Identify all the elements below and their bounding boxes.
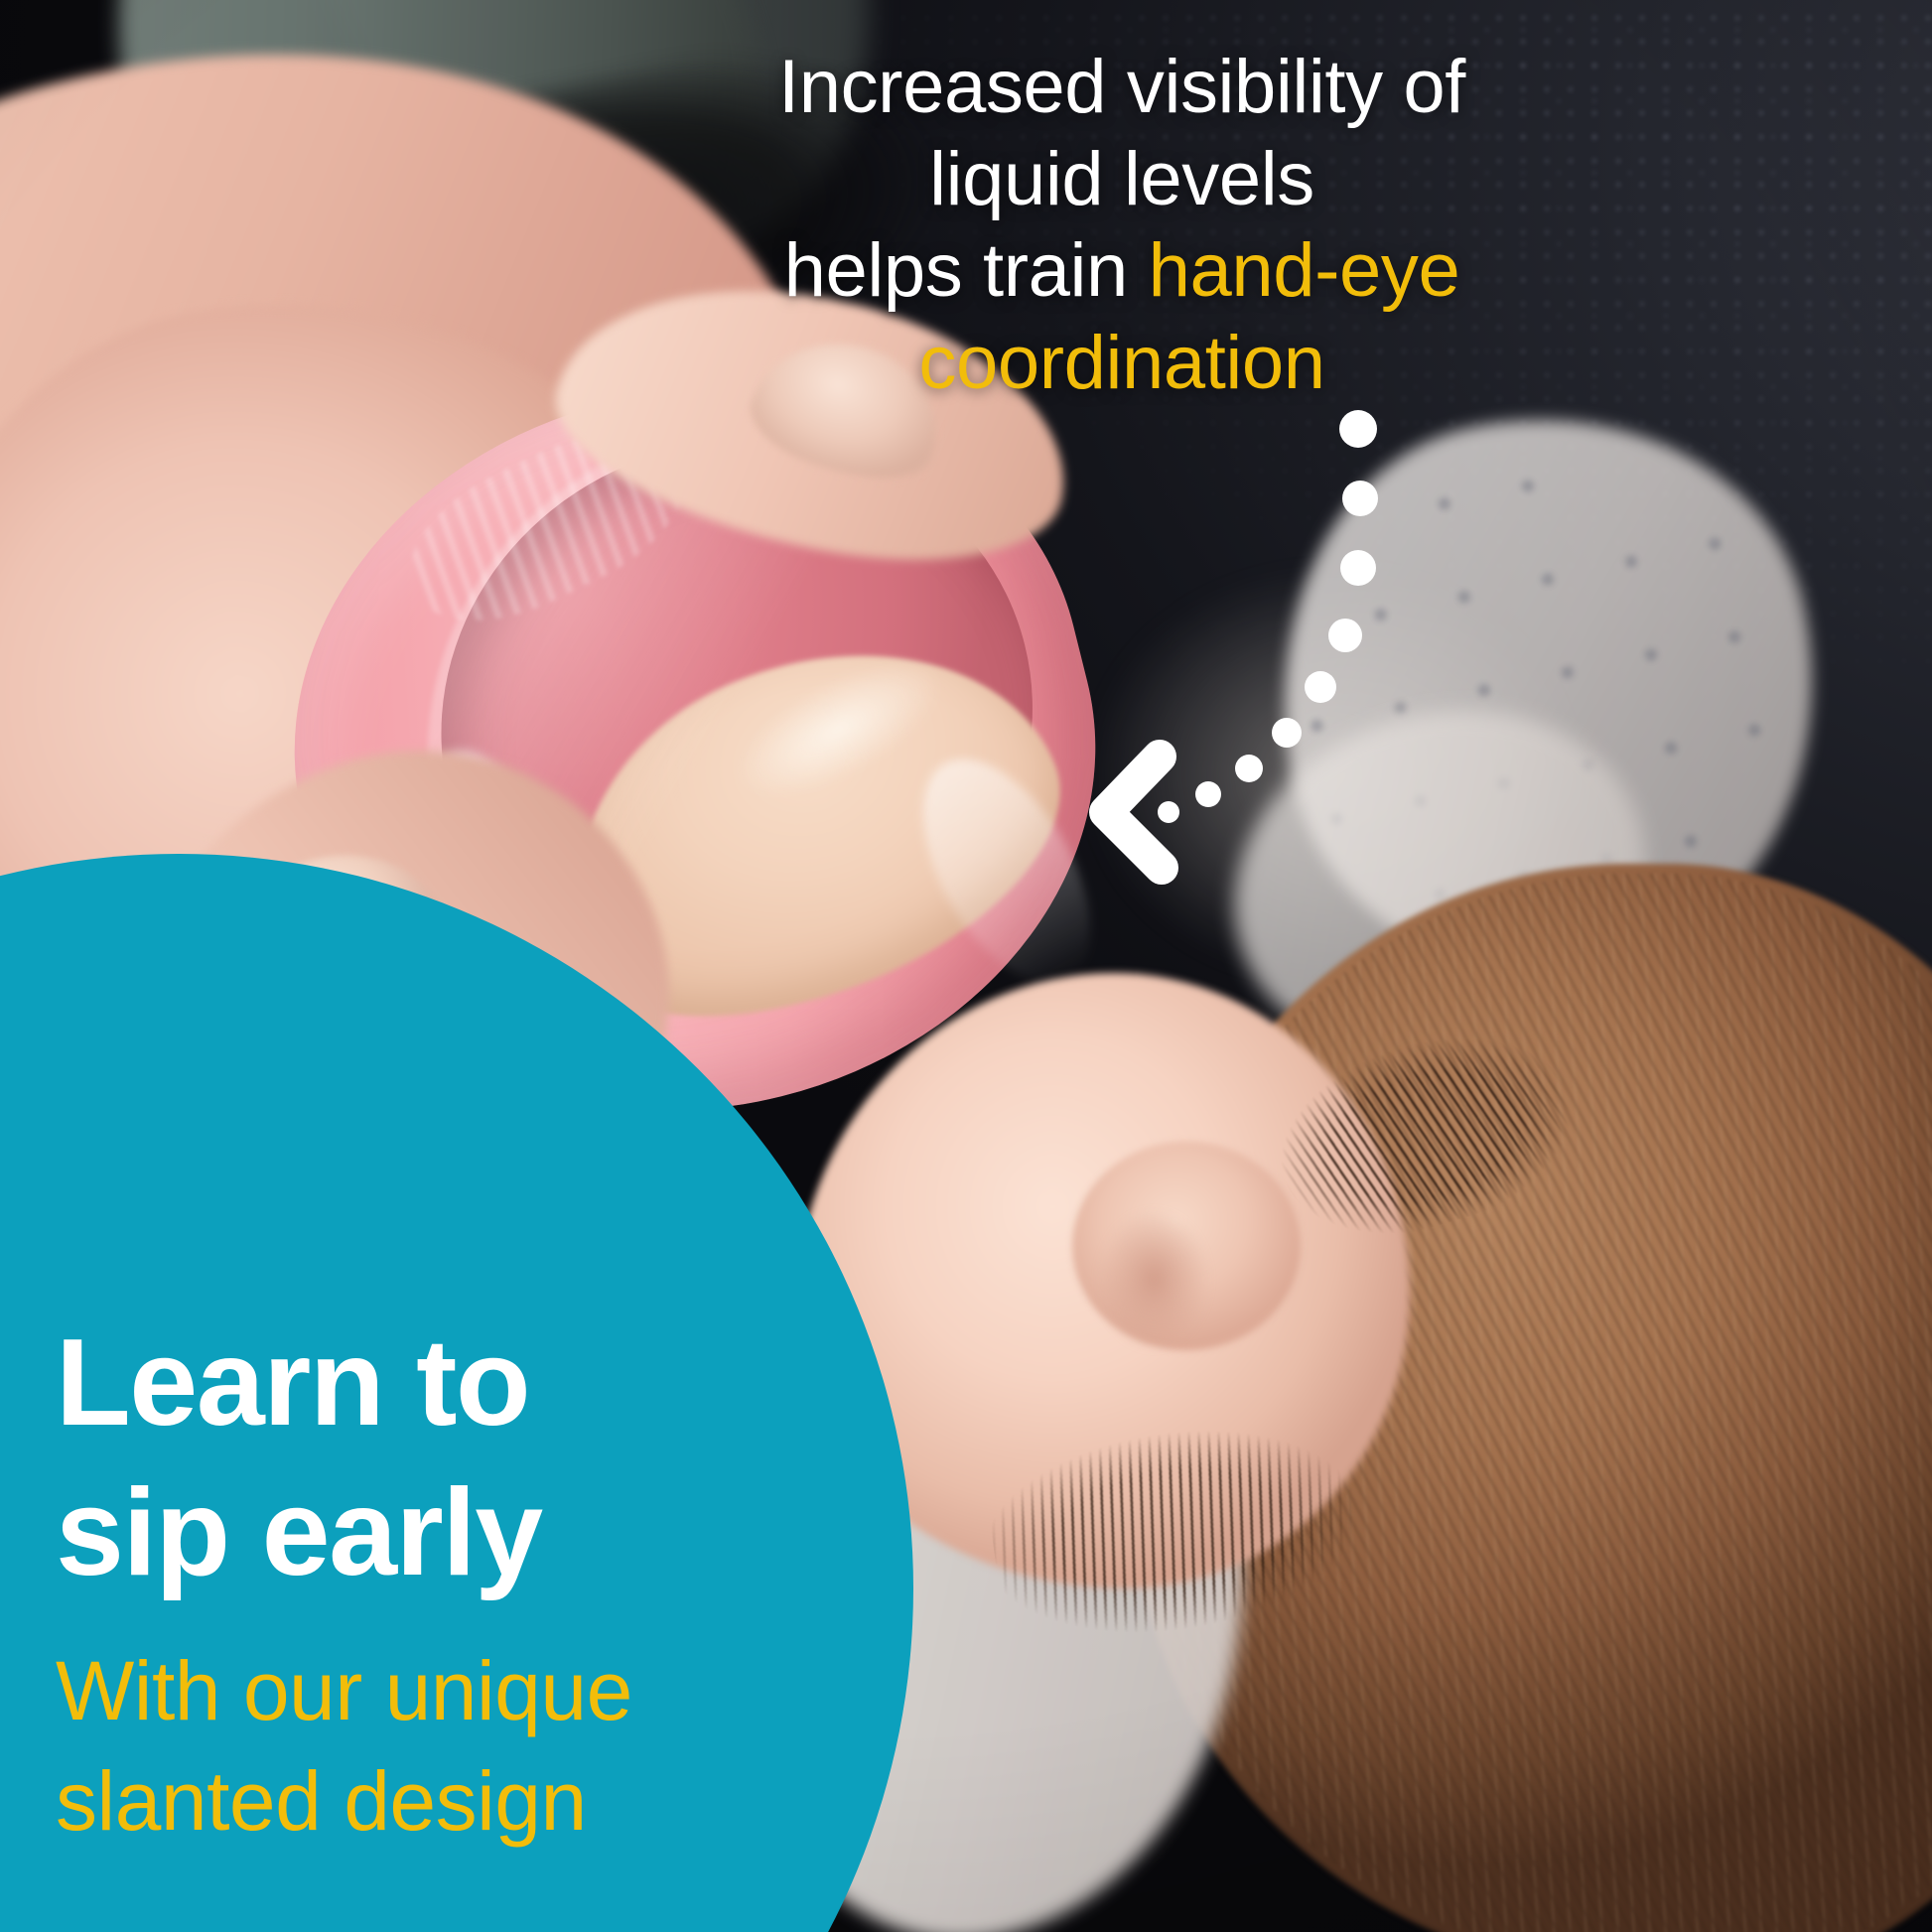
callout-line-3: helps train hand-eye [755, 225, 1489, 318]
callout-line-1: Increased visibility of [755, 42, 1489, 134]
arrow-dot-9 [1158, 801, 1179, 823]
callout-highlight-hand-eye: hand-eye [1149, 228, 1460, 313]
badge-text-block: Learn to sip early With our unique slant… [56, 1309, 751, 1855]
callout-text-block: Increased visibility of liquid levels he… [755, 42, 1489, 410]
arrow-dot-7 [1235, 755, 1263, 782]
callout-line-2: liquid levels [755, 134, 1489, 226]
badge-headline-line-1: Learn to [56, 1309, 751, 1458]
arrow-dot-8 [1195, 781, 1221, 807]
arrow-dot-5 [1305, 671, 1336, 703]
marketing-image: Increased visibility of liquid levels he… [0, 0, 1932, 1932]
arrow-dot-4 [1328, 619, 1362, 652]
badge-subheadline-line-1: With our unique [56, 1639, 751, 1744]
arrow-dot-1 [1339, 410, 1377, 448]
arrow-chevron-head [1106, 757, 1162, 868]
badge-headline-line-2: sip early [56, 1458, 751, 1608]
callout-line-3-plain: helps train [784, 228, 1149, 313]
badge-subheadline-line-2: slanted design [56, 1749, 751, 1855]
arrow-dot-3 [1340, 550, 1376, 586]
dotted-curved-arrow-pointing-left [1072, 387, 1529, 983]
arrow-dot-2 [1342, 481, 1378, 516]
arrow-dot-6 [1272, 718, 1302, 748]
